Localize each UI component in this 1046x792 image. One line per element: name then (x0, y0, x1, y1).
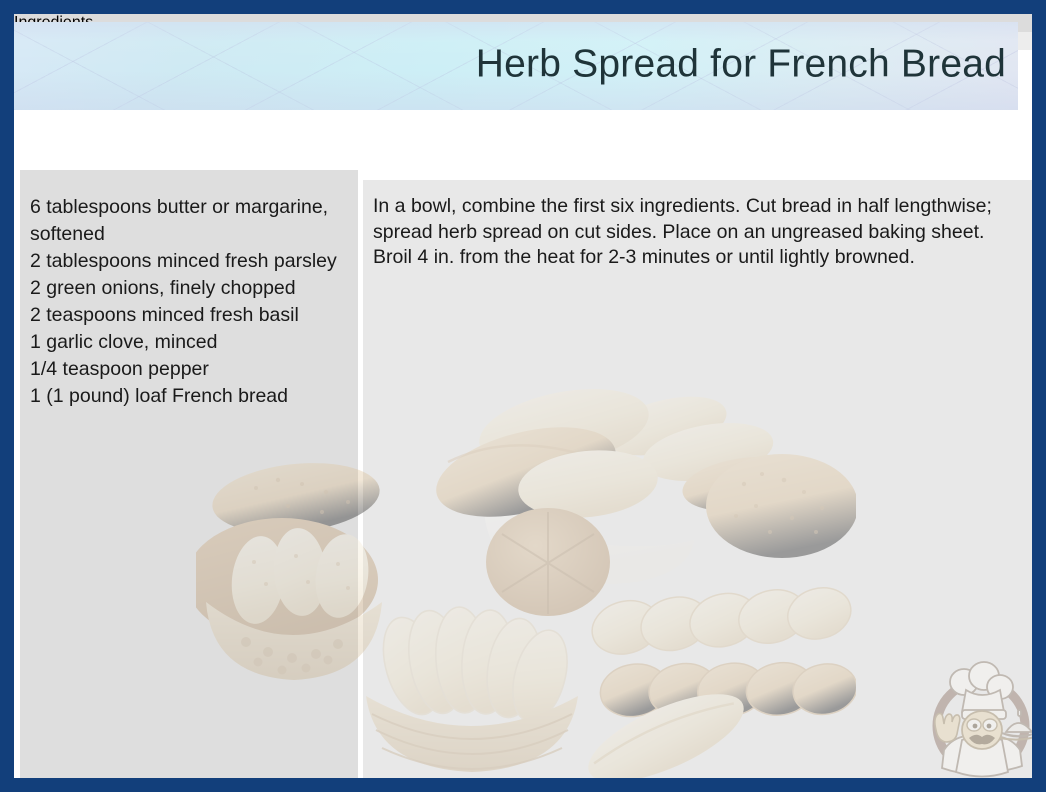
list-item: 1 (1 pound) loaf French bread (30, 383, 346, 410)
page-title: Herb Spread for French Bread (476, 44, 1006, 87)
list-item: 2 teaspoons minced fresh basil (30, 302, 346, 329)
list-item: 2 tablespoons minced fresh parsley (30, 248, 346, 275)
directions-text: In a bowl, combine the first six ingredi… (373, 194, 1022, 271)
panel-directions: In a bowl, combine the first six ingredi… (363, 180, 1032, 778)
title-banner: Herb Spread for French Bread (14, 22, 1018, 110)
recipe-slide: Herb Spread for French Bread Ingredients… (0, 0, 1046, 792)
list-item: 1 garlic clove, minced (30, 329, 346, 356)
slide-content-area: Herb Spread for French Bread Ingredients… (14, 14, 1032, 778)
panel-ingredients: 6 tablespoons butter or margarine, softe… (20, 170, 358, 778)
list-item: 6 tablespoons butter or margarine, softe… (30, 194, 346, 248)
list-item: 1/4 teaspoon pepper (30, 356, 346, 383)
ingredients-list: 6 tablespoons butter or margarine, softe… (30, 194, 346, 410)
list-item: 2 green onions, finely chopped (30, 275, 346, 302)
